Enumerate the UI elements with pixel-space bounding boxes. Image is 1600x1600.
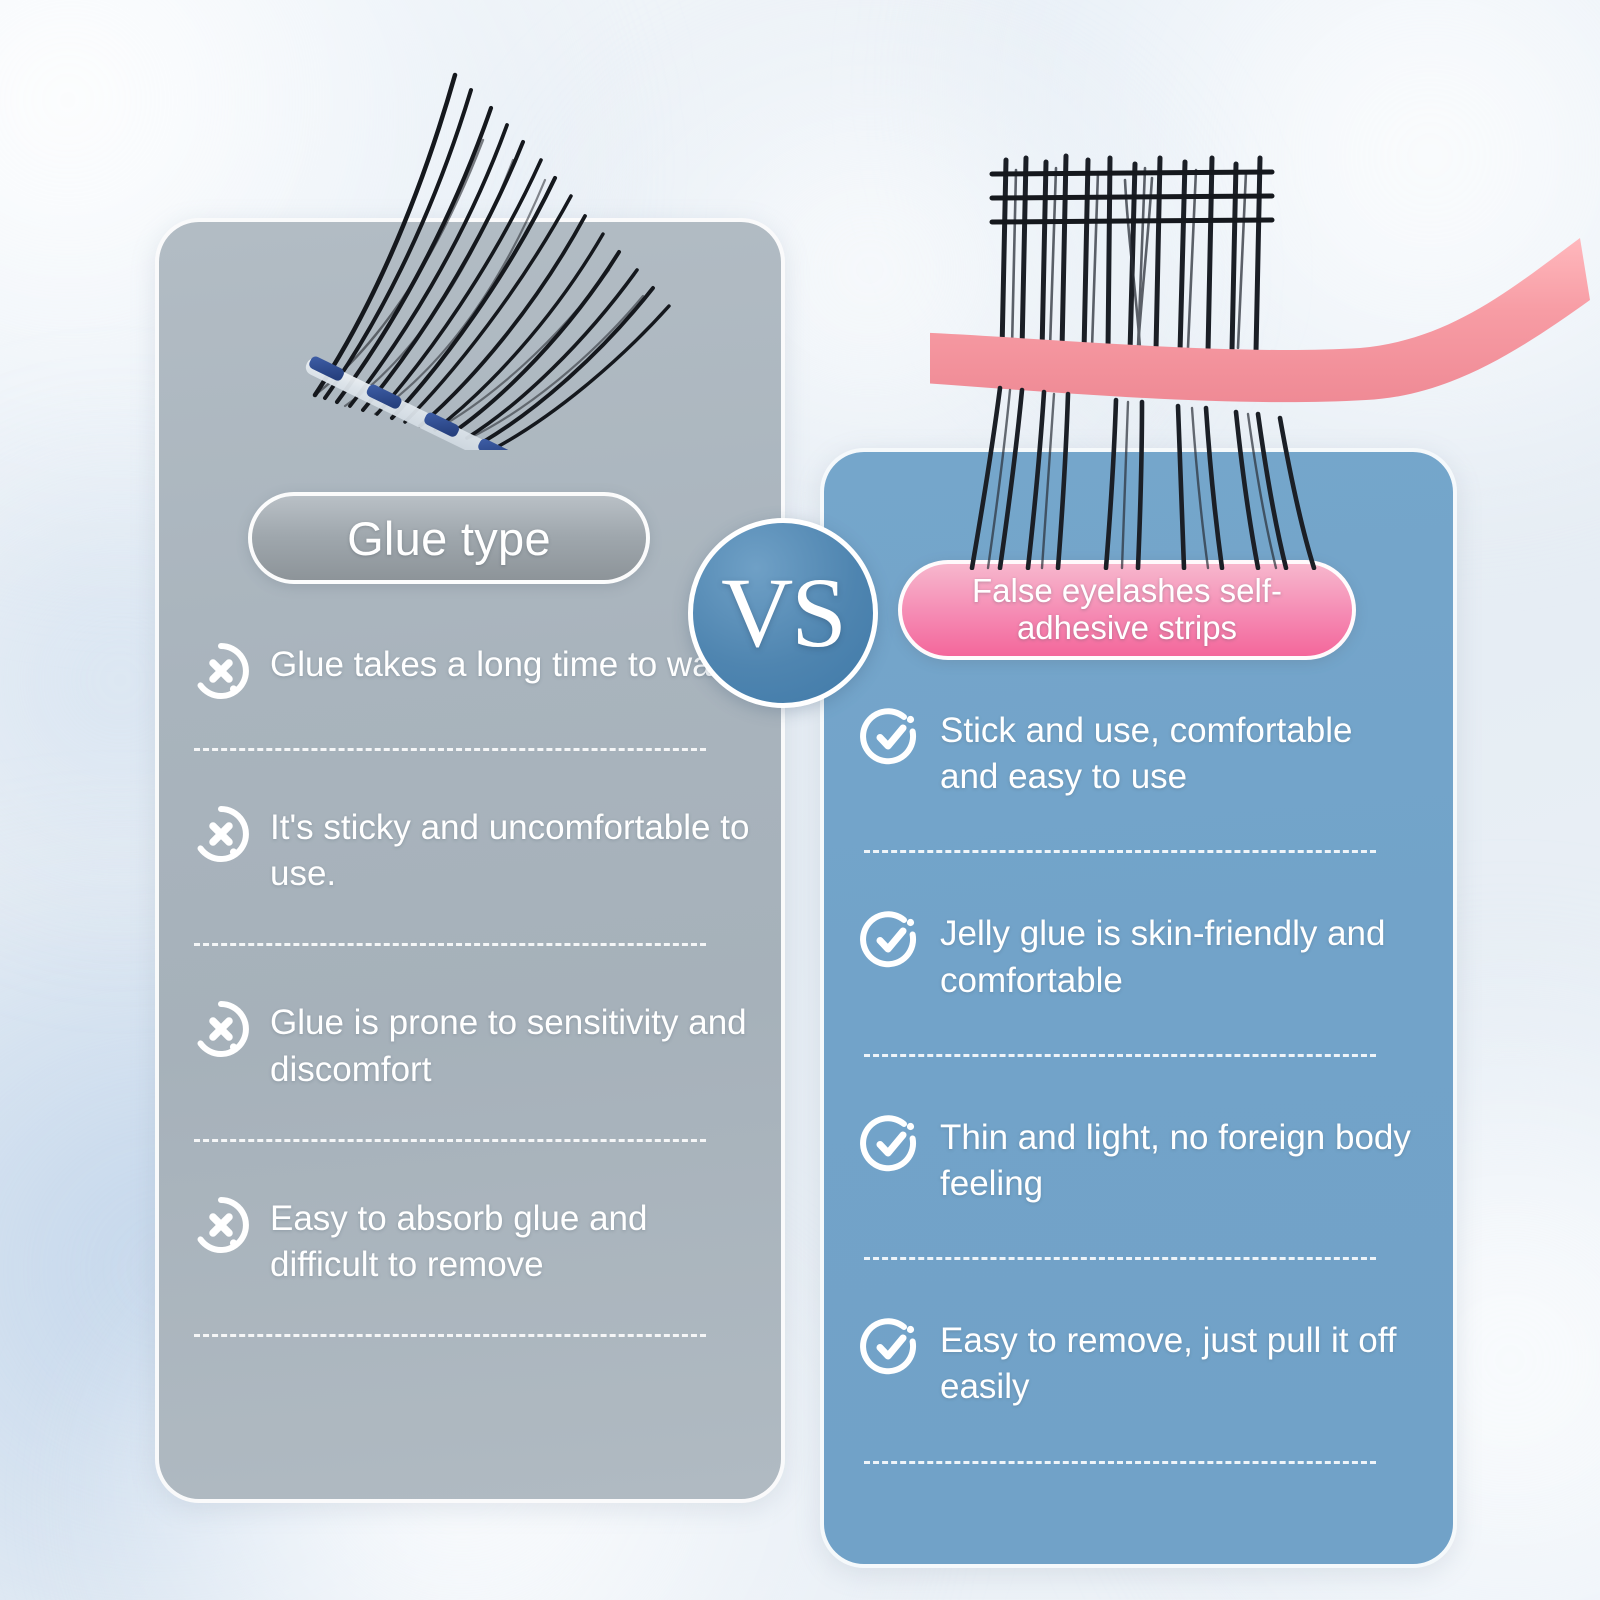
list-item-label: Glue is prone to sensitivity and discomf… — [270, 998, 750, 1092]
right-panel-title-badge: False eyelashes self-adhesive strips — [898, 560, 1356, 660]
list-item: Jelly glue is skin-friendly and comforta… — [860, 909, 1420, 1003]
spacer — [190, 751, 750, 803]
left-panel-feature-list: Glue takes a long time to wait It's stic… — [190, 640, 750, 1337]
comparison-infographic: Glue type VS False eyelashes self-adhesi… — [0, 0, 1600, 1600]
right-panel-feature-list: Stick and use, comfortable and easy to u… — [860, 706, 1420, 1464]
list-item: Easy to remove, just pull it off easily — [860, 1316, 1420, 1410]
spacer — [190, 946, 750, 998]
spacer — [190, 1142, 750, 1194]
list-item: Easy to absorb glue and difficult to rem… — [190, 1194, 750, 1288]
spacer — [190, 897, 750, 943]
spacer — [860, 1411, 1420, 1461]
spacer — [860, 1260, 1420, 1316]
list-item-label: Jelly glue is skin-friendly and comforta… — [940, 909, 1420, 1003]
spacer — [860, 1057, 1420, 1113]
list-item-label: It's sticky and uncomfortable to use. — [270, 803, 750, 897]
list-item: Glue takes a long time to wait — [190, 640, 750, 702]
list-item: It's sticky and uncomfortable to use. — [190, 803, 750, 897]
vs-label: VS — [721, 563, 845, 663]
list-item-label: Glue takes a long time to wait — [270, 640, 729, 688]
list-item: Thin and light, no foreign body feeling — [860, 1113, 1420, 1207]
list-item-label: Easy to absorb glue and difficult to rem… — [270, 1194, 750, 1288]
background-cloud — [980, 0, 1600, 460]
vs-badge: VS — [688, 518, 878, 708]
spacer — [190, 1288, 750, 1334]
cross-circle-icon — [190, 1194, 252, 1256]
list-item-label: Thin and light, no foreign body feeling — [940, 1113, 1420, 1207]
spacer — [860, 800, 1420, 850]
left-panel-title: Glue type — [347, 511, 551, 566]
spacer — [860, 1004, 1420, 1054]
spacer — [190, 1093, 750, 1139]
check-circle-icon — [860, 1113, 922, 1175]
list-item-label: Easy to remove, just pull it off easily — [940, 1316, 1420, 1410]
cross-circle-icon — [190, 640, 252, 702]
item-divider — [864, 1461, 1376, 1464]
spacer — [860, 853, 1420, 909]
check-circle-icon — [860, 909, 922, 971]
list-item: Glue is prone to sensitivity and discomf… — [190, 998, 750, 1092]
right-panel-title: False eyelashes self-adhesive strips — [924, 573, 1330, 647]
item-divider — [194, 1334, 706, 1337]
list-item-label: Stick and use, comfortable and easy to u… — [940, 706, 1420, 800]
left-panel-title-badge: Glue type — [248, 492, 650, 584]
list-item: Stick and use, comfortable and easy to u… — [860, 706, 1420, 800]
check-circle-icon — [860, 706, 922, 768]
spacer — [190, 702, 750, 748]
cross-circle-icon — [190, 998, 252, 1060]
spacer — [860, 1207, 1420, 1257]
cross-circle-icon — [190, 803, 252, 865]
check-circle-icon — [860, 1316, 922, 1378]
